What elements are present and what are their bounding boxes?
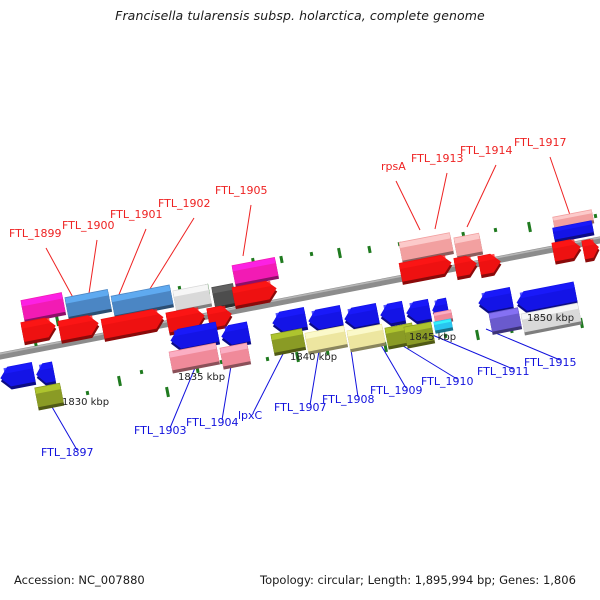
- leader-line: [550, 157, 570, 215]
- leader-line: [435, 173, 447, 229]
- tick-mark: [117, 376, 122, 386]
- tick-mark: [475, 330, 480, 340]
- leader-line: [243, 205, 251, 256]
- gene-label-lpxc[interactable]: lpxC: [238, 410, 262, 421]
- tick-mark: [140, 370, 144, 374]
- tick-mark: [165, 387, 170, 397]
- gene-label-ftl_1917[interactable]: FTL_1917: [514, 137, 566, 148]
- scale-tick-label: 1835 kbp: [178, 372, 225, 383]
- gene-khaki-m1[interactable]: [305, 325, 349, 354]
- gene-label-ftl_1904[interactable]: FTL_1904: [186, 417, 238, 428]
- leader-line: [396, 181, 420, 230]
- gene-label-ftl_1897[interactable]: FTL_1897: [41, 447, 93, 458]
- gene-olive-1897[interactable]: [34, 383, 64, 411]
- gene-label-ftl_1903[interactable]: FTL_1903: [134, 425, 186, 436]
- tick-mark: [594, 214, 598, 218]
- gene-blue-1897a[interactable]: [0, 362, 36, 391]
- gene-label-ftl_1905[interactable]: FTL_1905: [215, 185, 267, 196]
- gene-magenta-1905[interactable]: [232, 257, 279, 287]
- tick-mark: [367, 246, 371, 253]
- gene-label-ftl_1915[interactable]: FTL_1915: [524, 357, 576, 368]
- gene-salmon-1913[interactable]: [453, 233, 483, 260]
- tick-mark: [310, 252, 314, 256]
- gene-label-ftl_1911[interactable]: FTL_1911: [477, 366, 529, 377]
- gene-label-ftl_1909[interactable]: FTL_1909: [370, 385, 422, 396]
- gene-label-ftl_1901[interactable]: FTL_1901: [110, 209, 162, 220]
- genome-stats-text: Topology: circular; Length: 1,895,994 bp…: [260, 573, 576, 587]
- tick-mark: [494, 228, 498, 232]
- tick-mark: [527, 222, 532, 232]
- leader-line: [222, 360, 232, 420]
- scale-tick-label: 1830 kbp: [62, 397, 109, 408]
- accession-text: Accession: NC_007880: [14, 573, 145, 587]
- scale-tick-label: 1850 kbp: [527, 313, 574, 324]
- gene-label-rpsa[interactable]: rpsA: [381, 161, 406, 172]
- gene-label-ftl_1914[interactable]: FTL_1914: [460, 145, 512, 156]
- gene-salmon-1904[interactable]: [219, 343, 251, 370]
- tick-mark: [266, 357, 270, 361]
- genome-graphics: [0, 0, 600, 600]
- gene-label-ftl_1902[interactable]: FTL_1902: [158, 198, 210, 209]
- gene-label-ftl_1899[interactable]: FTL_1899: [9, 228, 61, 239]
- gene-red-r2[interactable]: [453, 254, 479, 280]
- gene-label-ftl_1913[interactable]: FTL_1913: [411, 153, 463, 164]
- leader-line: [88, 240, 97, 300]
- leader-line: [148, 218, 194, 292]
- gene-label-ftl_1910[interactable]: FTL_1910: [421, 376, 473, 387]
- tick-mark: [86, 391, 90, 395]
- scale-tick-label: 1840 kbp: [290, 352, 337, 363]
- gene-blue-1897b[interactable]: [34, 361, 56, 387]
- gene-label-ftl_1900[interactable]: FTL_1900: [62, 220, 114, 231]
- leader-line: [467, 165, 496, 227]
- gene-label-ftl_1907[interactable]: FTL_1907: [274, 402, 326, 413]
- leader-line: [118, 229, 146, 297]
- scale-tick-label: 1845 kbp: [409, 332, 456, 343]
- tick-mark: [279, 256, 283, 263]
- gene-blue-m4[interactable]: [378, 301, 406, 328]
- genome-map-viewer: Francisella tularensis subsp. holarctica…: [0, 0, 600, 600]
- tick-mark: [337, 248, 342, 258]
- gene-label-ftl_1908[interactable]: FTL_1908: [322, 394, 374, 405]
